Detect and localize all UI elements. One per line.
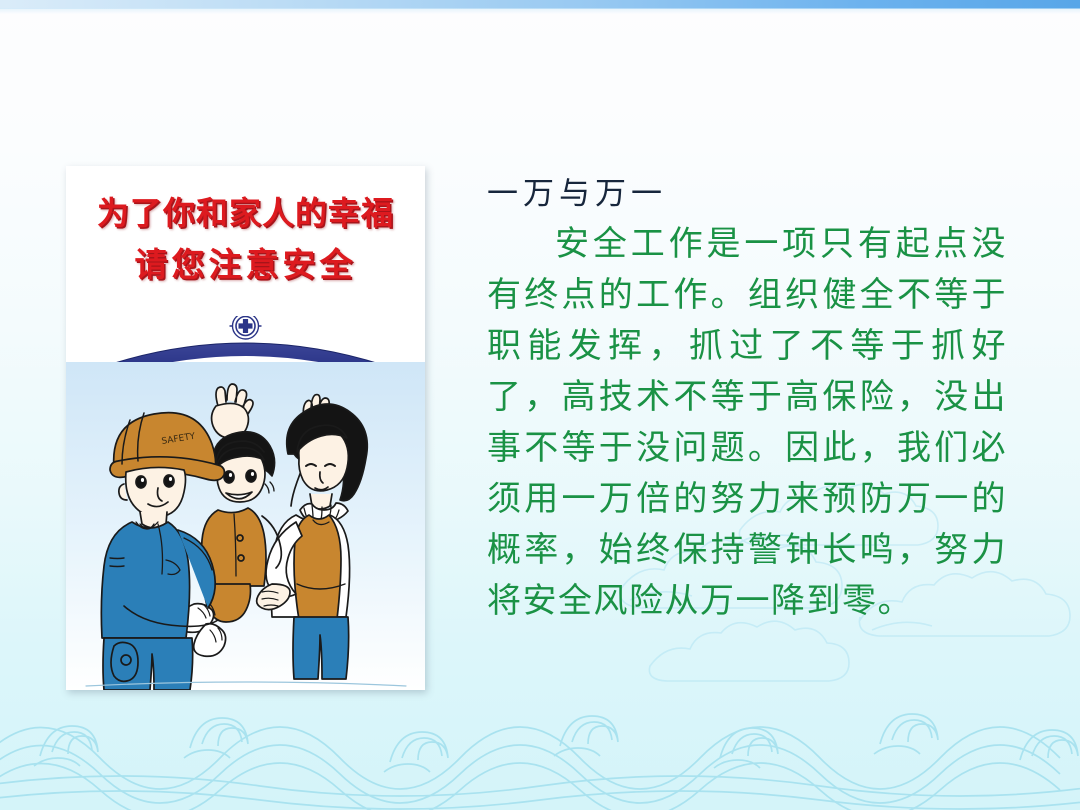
poster-headline-line-2: 请您注意安全	[66, 238, 425, 286]
safety-poster-image: 为了你和家人的幸福 请您注意安全	[66, 166, 425, 690]
article-body-text: 安全工作是一项只有起点没有终点的工作。组织健全不等于职能发挥，抓过了不等于抓好了…	[487, 219, 1007, 627]
safety-cross-emblem	[230, 316, 262, 339]
article-text-column: 一万与万一 安全工作是一项只有起点没有终点的工作。组织健全不等于职能发挥，抓过了…	[487, 168, 1007, 627]
slide-canvas: 为了你和家人的幸福 请您注意安全	[0, 0, 1080, 810]
article-title: 一万与万一	[487, 168, 1007, 213]
top-accent-fade	[0, 8, 1080, 14]
poster-headline-line-1: 为了你和家人的幸福	[66, 188, 425, 234]
poster-family-illustration: SAFETY	[66, 362, 425, 690]
